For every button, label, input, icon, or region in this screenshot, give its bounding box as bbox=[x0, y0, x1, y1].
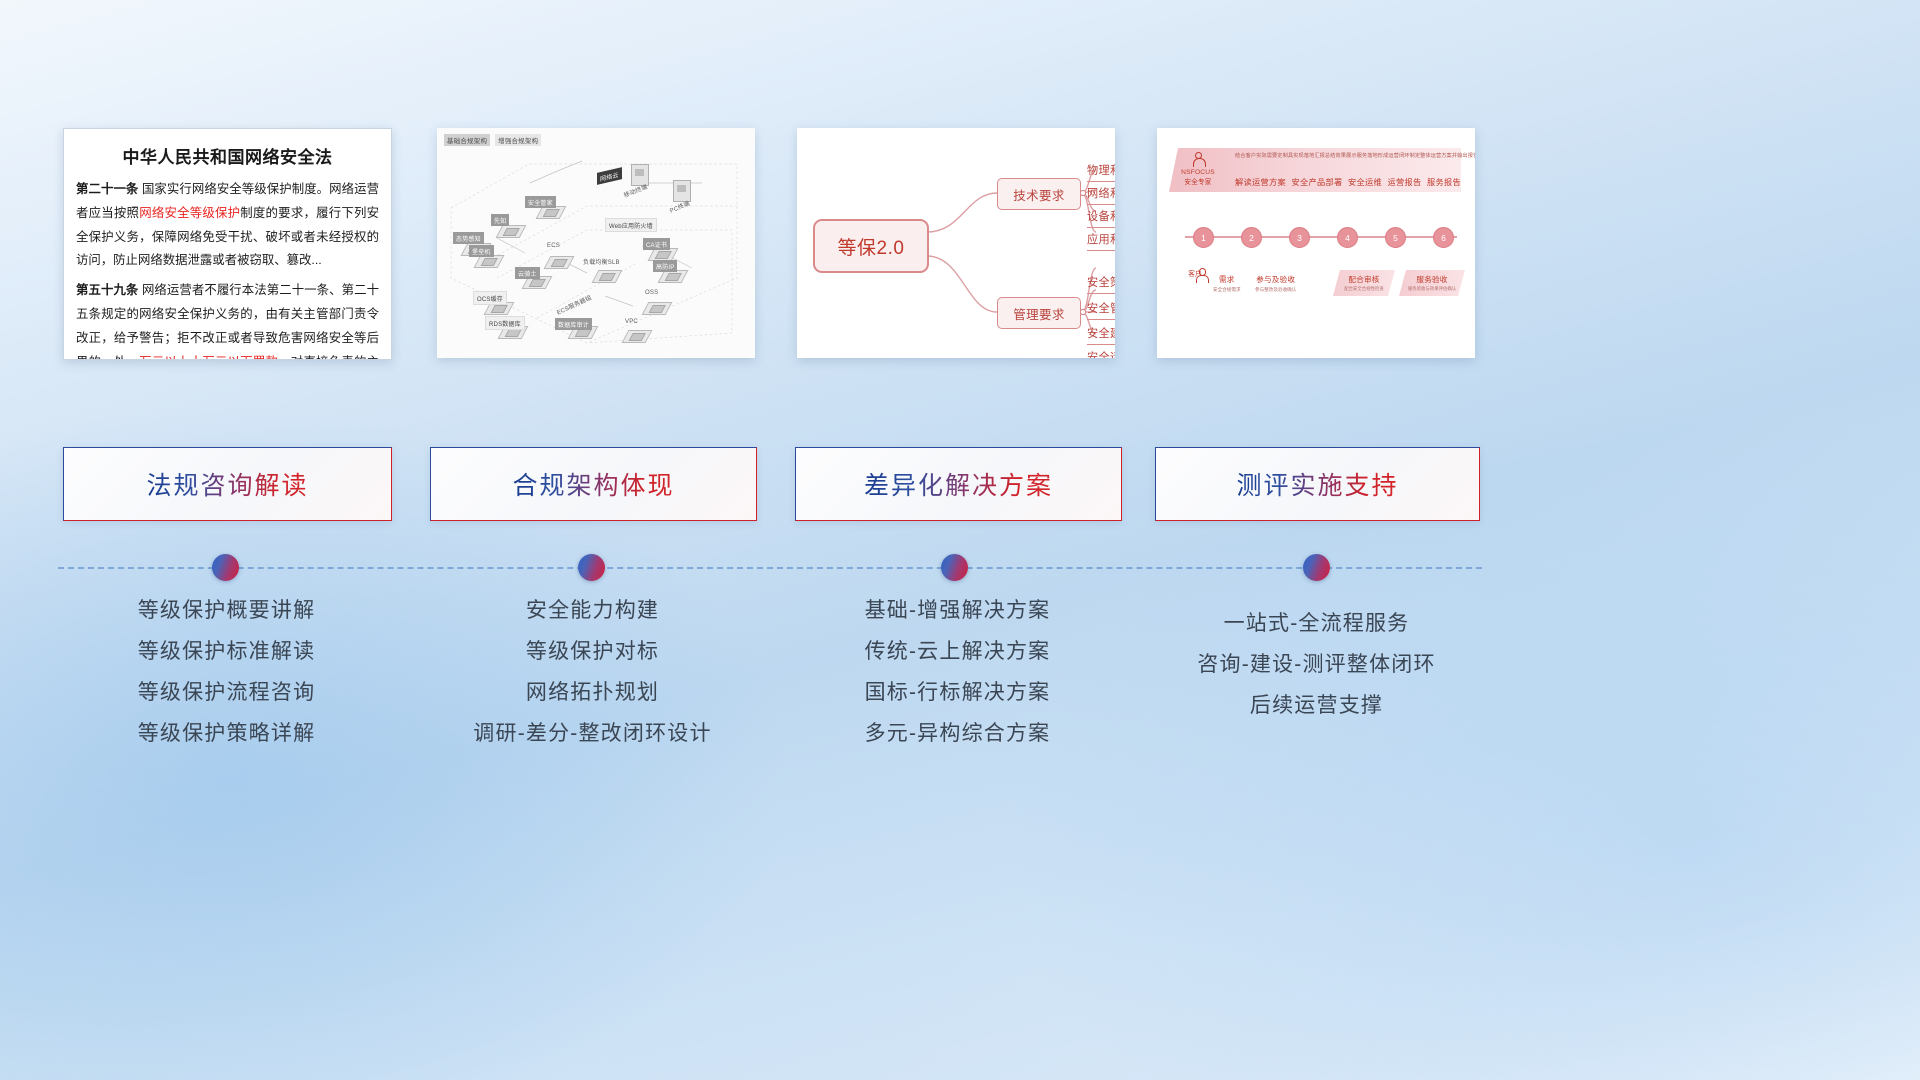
step-4: 运营报告 bbox=[1388, 176, 1422, 188]
label-security-butler: 安全管家 bbox=[525, 196, 556, 208]
label-situational-awareness: 态势感知 bbox=[453, 232, 484, 244]
step-5: 服务报告 bbox=[1427, 176, 1461, 188]
bullet-column-compliance-architecture: 安全能力构建 等级保护对标 网络拓扑规划 调研-差分-整改闭环设计 bbox=[430, 600, 755, 764]
bullet-item: 等级保护策略详解 bbox=[63, 723, 390, 744]
mindmap: 等保2.0 技术要求 物理和环境安全 网络和通信安全 设备和计算安全 应用和数据… bbox=[797, 128, 1115, 358]
node-ecs bbox=[545, 254, 571, 269]
bottom-tag-demand: 需求 安全合规需求 bbox=[1213, 274, 1241, 293]
label-oss: OSS bbox=[645, 290, 658, 296]
section-label-differentiated-solution[interactable]: 差异化解决方案 bbox=[795, 447, 1122, 521]
bottom-tag-acceptance-main: 服务验收 bbox=[1416, 274, 1447, 285]
bullet-item: 后续运营支撑 bbox=[1155, 695, 1478, 716]
bullet-item: 多元-异构综合方案 bbox=[795, 723, 1120, 744]
node-pc-terminal bbox=[673, 180, 691, 202]
node-vpc bbox=[623, 328, 649, 343]
label-rds-database: RDS数据库 bbox=[485, 316, 525, 330]
architecture-diagram: 基础合规架构 增强合规架构 bbox=[437, 128, 755, 358]
section-label-compliance-architecture-text: 合规架构体现 bbox=[512, 466, 674, 502]
article-59-highlight-1: 一万元以上十万元以下罚款 bbox=[127, 355, 279, 360]
mindmap-leaf-application-data: 应用和数据安全 bbox=[1087, 231, 1115, 251]
timeline-step-3: 3 bbox=[1289, 227, 1310, 248]
article-59-label: 第五十九条 bbox=[76, 283, 138, 297]
bullet-item: 传统-云上解决方案 bbox=[795, 641, 1120, 662]
mindmap-leaf-device-computing: 设备和计算安全 bbox=[1087, 208, 1115, 228]
slide-canvas: 中华人民共和国网络安全法 第二十一条 国家实行网络安全等级保护制度。网络运营者应… bbox=[0, 0, 1920, 1080]
nsfocus-brand-sub: 安全专家 bbox=[1184, 178, 1211, 188]
bullet-item: 等级保护概要讲解 bbox=[63, 600, 390, 621]
mindmap-root: 等保2.0 bbox=[813, 219, 929, 273]
bullet-item: 网络拓扑规划 bbox=[430, 682, 755, 703]
mindmap-branch-technical: 技术要求 bbox=[997, 178, 1081, 210]
article-21-label: 第二十一条 bbox=[76, 182, 138, 196]
bullet-item: 等级保护流程咨询 bbox=[63, 682, 390, 703]
label-database-audit: 数据库审计 bbox=[555, 318, 592, 330]
section-label-regulation-consulting[interactable]: 法规咨询解读 bbox=[63, 447, 392, 521]
nsfocus-brand: NSFOCUS bbox=[1181, 168, 1215, 178]
mindmap-leaf-operations: 安全运维管理 bbox=[1087, 349, 1115, 358]
node-oss bbox=[643, 300, 669, 315]
label-anti-ddos-ip: 高防IP bbox=[653, 260, 677, 272]
label-ecs: ECS bbox=[547, 243, 560, 249]
step-3: 安全运维 bbox=[1348, 176, 1382, 188]
timeline-axis bbox=[1185, 236, 1457, 238]
label-cloud-knight: 云骑士 bbox=[515, 267, 540, 279]
section-label-assessment-support[interactable]: 测评实施支持 bbox=[1155, 447, 1480, 521]
law-body: 第二十一条 国家实行网络安全等级保护制度。网络运营者应当按照网络安全等级保护制度… bbox=[64, 178, 391, 360]
bottom-tag-audit-sub: 配合安全合规性检查 bbox=[1344, 286, 1384, 292]
bottom-tag-participation: 参与及验收 参与整改及验收确认 bbox=[1255, 274, 1296, 293]
bottom-tag-participation-main: 参与及验收 bbox=[1256, 274, 1295, 285]
timeline-marker-1 bbox=[212, 554, 239, 581]
bottom-tag-acceptance: 服务验收 服务验收与效果评估确认 bbox=[1399, 270, 1465, 296]
nsfocus-timeline: NSFOCUS 安全专家 结合客户实际需要定制具 实现落地 汇报总结 效果展示 … bbox=[1157, 128, 1475, 358]
label-load-balancer: 负载均衡SLB bbox=[583, 257, 620, 266]
timeline-step-4: 4 bbox=[1337, 227, 1358, 248]
nsfocus-steps: 解读运营方案 安全产品部署 安全运维 运营报告 服务报告 bbox=[1235, 176, 1461, 188]
bottom-tag-demand-main: 需求 bbox=[1219, 274, 1235, 285]
top-note-7: 制定整体运营方案并输出报告 bbox=[1410, 152, 1475, 159]
law-title: 中华人民共和国网络安全法 bbox=[64, 143, 391, 168]
customer-label: 客户 bbox=[1175, 268, 1215, 278]
mindmap-leaf-network-communication: 网络和通信安全 bbox=[1087, 185, 1115, 205]
bottom-tag-demand-sub: 安全合规需求 bbox=[1213, 287, 1241, 293]
label-xianzhi: 先知 bbox=[491, 214, 509, 226]
bullet-item: 安全能力构建 bbox=[430, 600, 755, 621]
bullet-item: 等级保护标准解读 bbox=[63, 641, 390, 662]
section-label-compliance-architecture[interactable]: 合规架构体现 bbox=[430, 447, 757, 521]
timeline-step-5: 5 bbox=[1385, 227, 1406, 248]
bullet-item: 一站式-全流程服务 bbox=[1155, 613, 1478, 634]
timeline-marker-2 bbox=[578, 554, 605, 581]
section-label-differentiated-solution-text: 差异化解决方案 bbox=[864, 466, 1053, 502]
mindmap-leaf-policy-system: 安全策略和管理制度 bbox=[1087, 274, 1115, 294]
top-note-3: 汇报总结 bbox=[1314, 152, 1335, 159]
node-load-balancer bbox=[593, 268, 619, 283]
timeline-dashed-line bbox=[58, 567, 1482, 569]
timeline-step-1: 1 bbox=[1193, 227, 1214, 248]
bullet-column-regulation-consulting: 等级保护概要讲解 等级保护标准解读 等级保护流程咨询 等级保护策略详解 bbox=[63, 600, 390, 764]
bullet-item: 调研-差分-整改闭环设计 bbox=[430, 723, 755, 744]
bullet-item: 基础-增强解决方案 bbox=[795, 600, 1120, 621]
bottom-tag-audit: 配合审核 配合安全合规性检查 bbox=[1333, 270, 1395, 296]
mindmap-branch-management: 管理要求 bbox=[997, 297, 1081, 329]
article-21-highlight: 网络安全等级保护 bbox=[139, 206, 240, 220]
bottom-tag-acceptance-sub: 服务验收与效果评估确认 bbox=[1408, 286, 1456, 292]
mindmap-leaf-construction: 安全建设管理 bbox=[1087, 325, 1115, 345]
label-bastion-host: 堡垒机 bbox=[469, 245, 494, 257]
label-web-firewall: Web应用防火墙 bbox=[605, 218, 657, 232]
bottom-tag-participation-sub: 参与整改及验收确认 bbox=[1255, 287, 1296, 293]
bullet-item: 咨询-建设-测评整体闭环 bbox=[1155, 654, 1478, 675]
timeline-step-2: 2 bbox=[1241, 227, 1262, 248]
top-note-6: 形成运营闭环 bbox=[1378, 152, 1410, 159]
mindmap-leaf-physical-environment: 物理和环境安全 bbox=[1087, 162, 1115, 182]
law-article-21: 第二十一条 国家实行网络安全等级保护制度。网络运营者应当按照网络安全等级保护制度… bbox=[76, 178, 379, 273]
timeline-step-6: 6 bbox=[1433, 227, 1454, 248]
timeline-marker-3 bbox=[941, 554, 968, 581]
nsfocus-top-notes: 结合客户实际需要定制具 实现落地 汇报总结 效果展示 服务落地 形成运营闭环 制… bbox=[1235, 152, 1461, 159]
section-label-assessment-support-text: 测评实施支持 bbox=[1236, 466, 1398, 502]
step-1: 解读运营方案 bbox=[1235, 176, 1286, 188]
card-nsfocus-timeline: NSFOCUS 安全专家 结合客户实际需要定制具 实现落地 汇报总结 效果展示 … bbox=[1157, 128, 1475, 358]
law-article-59: 第五十九条 网络运营者不履行本法第二十一条、第二十五条规定的网络安全保护义务的，… bbox=[76, 279, 379, 360]
customer-block: 客户 bbox=[1175, 268, 1215, 278]
top-note-4: 效果展示 bbox=[1335, 152, 1356, 159]
card-cybersecurity-law: 中华人民共和国网络安全法 第二十一条 国家实行网络安全等级保护制度。网络运营者应… bbox=[63, 128, 392, 360]
bullet-item: 国标-行标解决方案 bbox=[795, 682, 1120, 703]
label-vpc: VPC bbox=[625, 319, 638, 325]
top-note-1: 结合客户实际需要定制具 bbox=[1235, 152, 1293, 159]
label-ca-certificate: CA证书 bbox=[643, 238, 670, 250]
bullet-item: 等级保护对标 bbox=[430, 641, 755, 662]
nsfocus-brand-block: NSFOCUS 安全专家 bbox=[1171, 150, 1225, 190]
card-compliance-architecture: 基础合规架构 增强合规架构 bbox=[437, 128, 755, 358]
top-note-2: 实现落地 bbox=[1293, 152, 1314, 159]
security-expert-icon bbox=[1193, 152, 1204, 167]
timeline-marker-4 bbox=[1303, 554, 1330, 581]
bullet-column-assessment-support: 一站式-全流程服务 咨询-建设-测评整体闭环 后续运营支撑 bbox=[1155, 613, 1478, 736]
step-2: 安全产品部署 bbox=[1292, 176, 1343, 188]
top-note-5: 服务落地 bbox=[1357, 152, 1378, 159]
bottom-tag-audit-main: 配合审核 bbox=[1348, 274, 1379, 285]
bullet-column-differentiated-solution: 基础-增强解决方案 传统-云上解决方案 国标-行标解决方案 多元-异构综合方案 bbox=[795, 600, 1120, 764]
label-ocs-cache: OCS缓存 bbox=[473, 291, 507, 305]
section-label-regulation-consulting-text: 法规咨询解读 bbox=[146, 466, 308, 502]
mindmap-leaf-org-personnel: 安全管理机构和人员 bbox=[1087, 300, 1115, 320]
card-dengbao-mindmap: 等保2.0 技术要求 物理和环境安全 网络和通信安全 设备和计算安全 应用和数据… bbox=[797, 128, 1115, 358]
